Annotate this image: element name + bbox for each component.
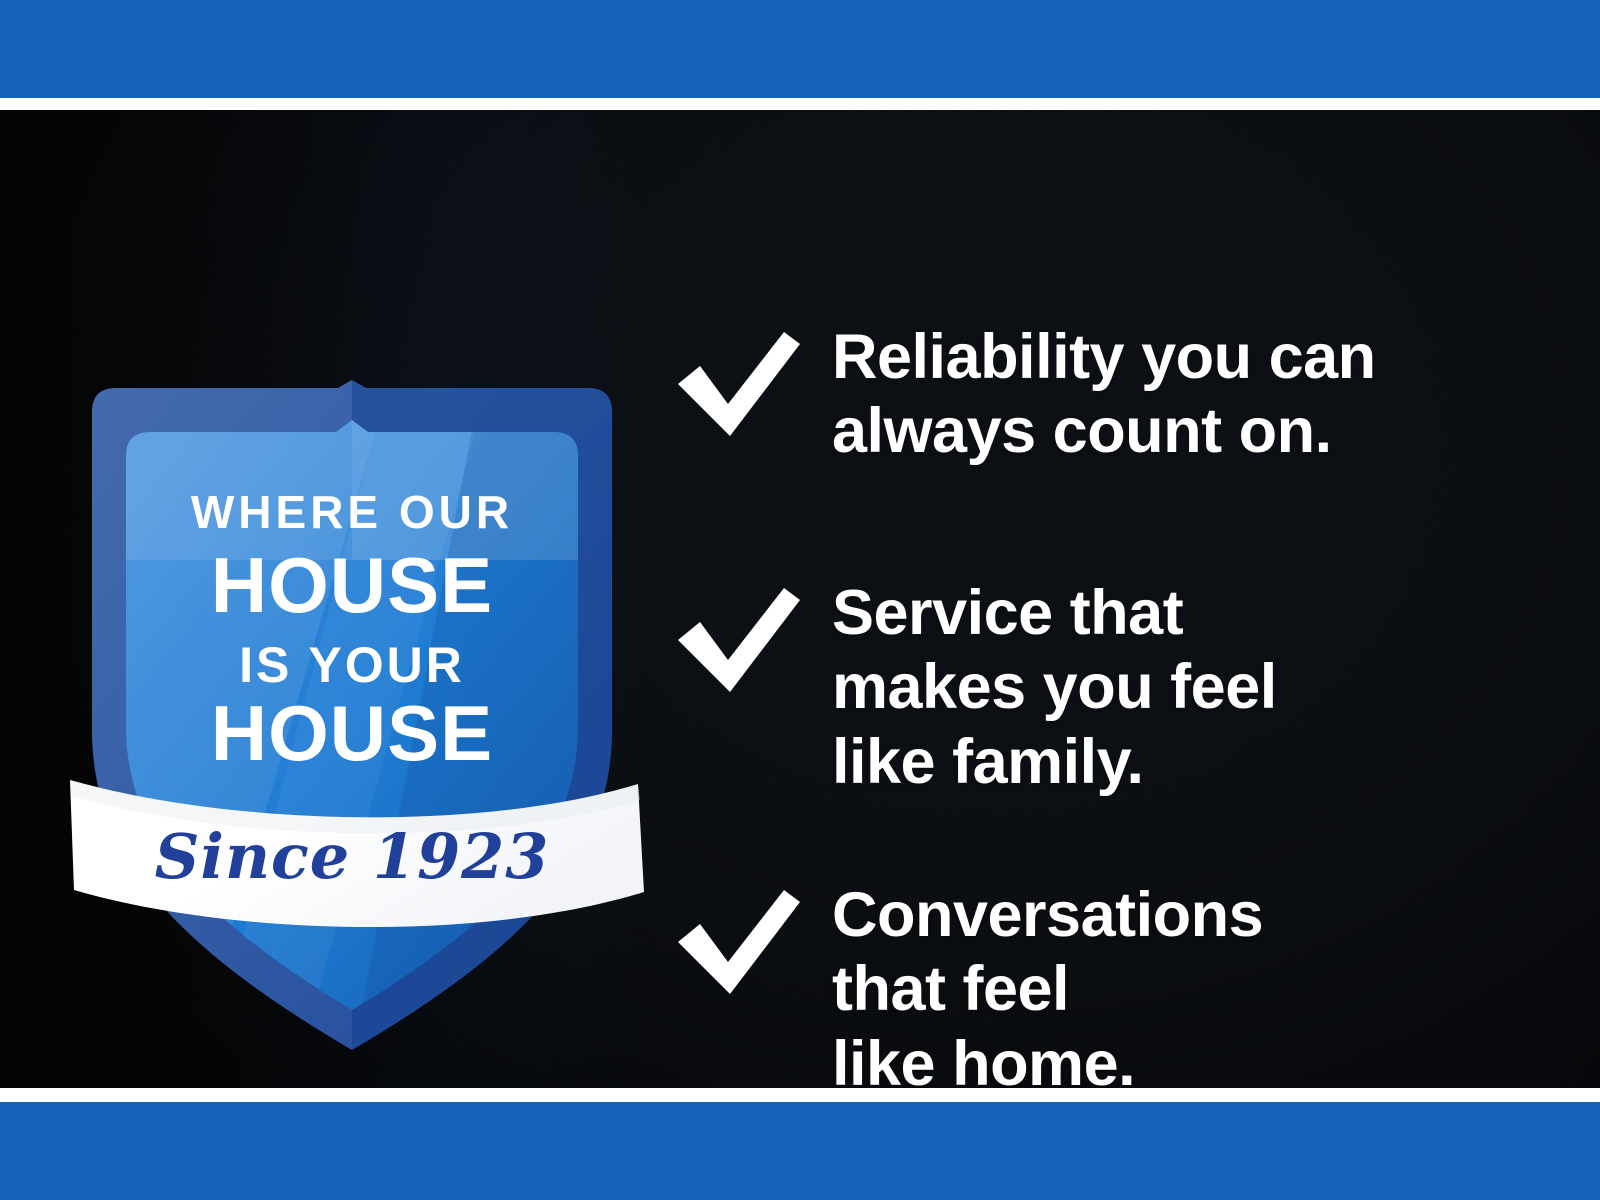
shield-emblem: WHERE OUR HOUSE IS YOUR HOUSE Since 1923: [52, 260, 652, 1070]
promo-graphic: WHERE OUR HOUSE IS YOUR HOUSE Since 1923: [0, 0, 1600, 1200]
check-icon: [672, 586, 802, 698]
shield-line-3: HOUSE: [211, 689, 493, 777]
shield-line-0: WHERE OUR: [191, 486, 513, 538]
content-stage: WHERE OUR HOUSE IS YOUR HOUSE Since 1923: [0, 110, 1600, 1088]
benefit-text-0: Reliability you can always count on.: [832, 320, 1376, 469]
bottom-brand-bar: [0, 1102, 1600, 1200]
shield-line-2: IS YOUR: [239, 637, 465, 693]
benefit-item-1: Service that makes you feel like family.: [672, 582, 1277, 799]
benefits-list: Reliability you can always count on. Ser…: [672, 222, 1572, 1088]
benefit-text-1: Service that makes you feel like family.: [832, 576, 1277, 799]
shield-banner-text: Since 1923: [155, 820, 550, 893]
check-icon: [672, 330, 802, 442]
benefit-item-0: Reliability you can always count on.: [672, 326, 1376, 469]
shield-line-1: HOUSE: [211, 541, 493, 629]
benefit-text-2: Conversations that feel like home.: [832, 878, 1263, 1088]
top-brand-bar: [0, 0, 1600, 98]
benefit-item-2: Conversations that feel like home.: [672, 884, 1263, 1088]
check-icon: [672, 888, 802, 1000]
